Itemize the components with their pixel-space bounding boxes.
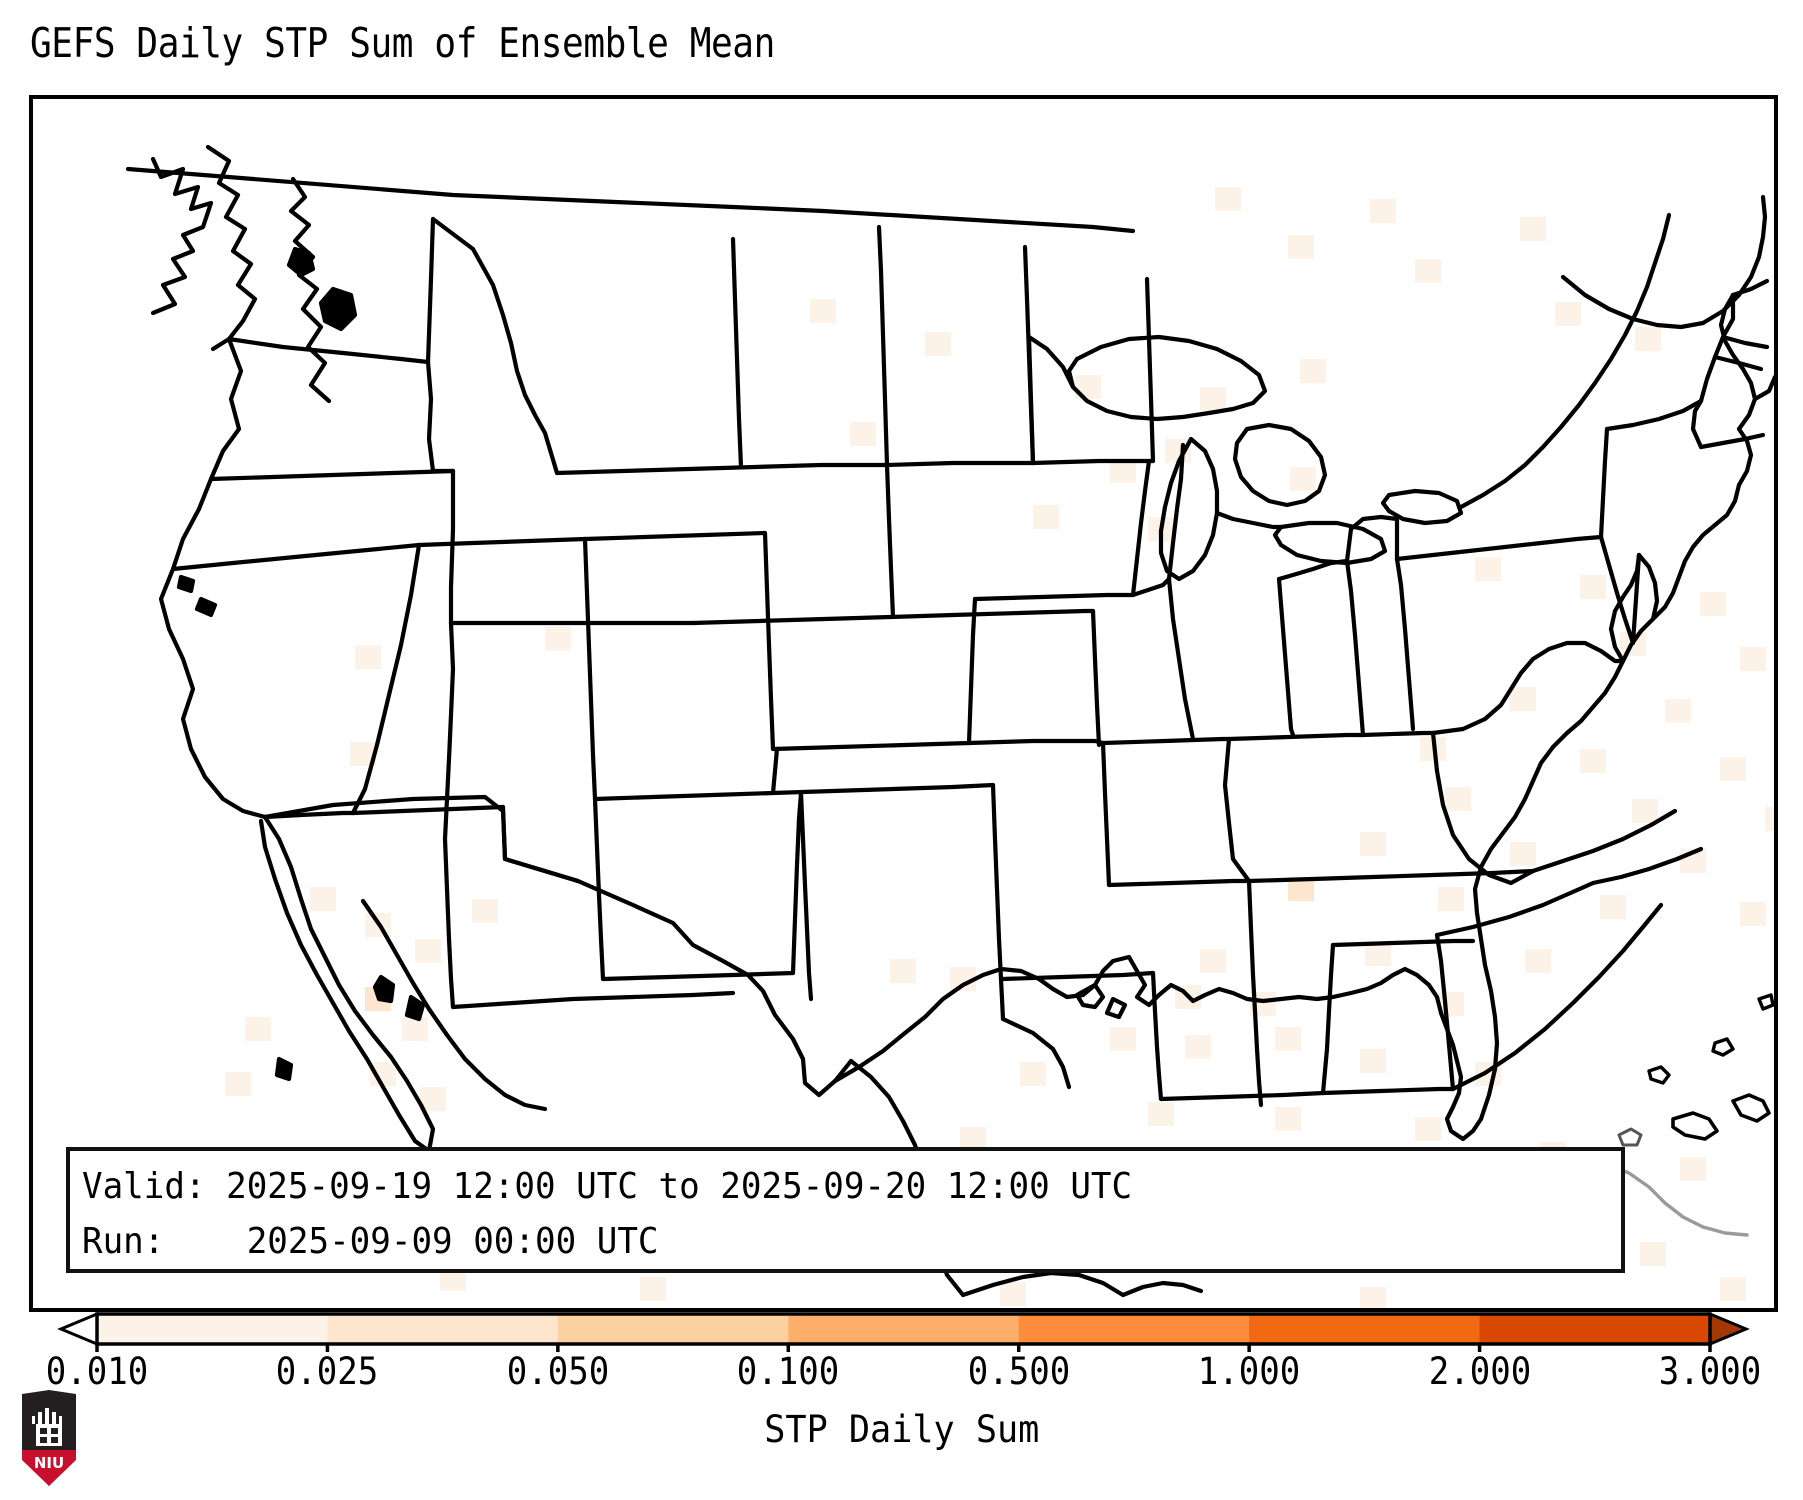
colorbar-tick-label: 1.000 bbox=[1198, 1350, 1300, 1394]
colorbar-tick-label: 0.025 bbox=[276, 1350, 378, 1394]
colorbar-tick-label: 0.050 bbox=[507, 1350, 609, 1394]
valid-time-text: Valid: 2025-09-19 12:00 UTC to 2025-09-2… bbox=[82, 1159, 1544, 1214]
colorbar-band bbox=[1249, 1314, 1480, 1344]
colorbar-tick-labels: 0.0100.0250.0500.1000.5001.0002.0003.000 bbox=[0, 1350, 1803, 1406]
page-title: GEFS Daily STP Sum of Ensemble Mean bbox=[30, 16, 775, 70]
forecast-info-box: Valid: 2025-09-19 12:00 UTC to 2025-09-2… bbox=[66, 1147, 1625, 1273]
colorbar bbox=[29, 1306, 1778, 1352]
colorbar-tick-label: 0.500 bbox=[967, 1350, 1069, 1394]
colorbar-band bbox=[97, 1314, 328, 1344]
colorbar-axis-title-text: STP Daily Sum bbox=[764, 1408, 1039, 1451]
colorbar-tick-label: 2.000 bbox=[1428, 1350, 1530, 1394]
niu-logo: NIU bbox=[18, 1390, 80, 1486]
niu-logo-banner-text: NIU bbox=[34, 1454, 64, 1472]
colorbar-band bbox=[1480, 1314, 1711, 1344]
colorbar-tick-label: 0.010 bbox=[46, 1350, 148, 1394]
map-outlines bbox=[33, 99, 1774, 1308]
run-time-text: Run: 2025-09-09 00:00 UTC bbox=[82, 1214, 1544, 1269]
colorbar-band bbox=[558, 1314, 789, 1344]
colorbar-axis-title: STP Daily Sum bbox=[0, 1408, 1803, 1451]
map-panel bbox=[29, 95, 1778, 1312]
colorbar-band bbox=[1019, 1314, 1250, 1344]
colorbar-tick-label: 0.100 bbox=[737, 1350, 839, 1394]
colorbar-band bbox=[788, 1314, 1019, 1344]
gefs-stp-map-figure: GEFS Daily STP Sum of Ensemble Mean bbox=[0, 0, 1803, 1500]
border-canada-central bbox=[823, 211, 1133, 231]
colorbar-swatches bbox=[29, 1306, 1778, 1352]
colorbar-band bbox=[327, 1314, 558, 1344]
colorbar-under-arrow bbox=[61, 1314, 97, 1344]
colorbar-tick-label: 3.000 bbox=[1659, 1350, 1761, 1394]
colorbar-over-arrow bbox=[1710, 1314, 1746, 1344]
